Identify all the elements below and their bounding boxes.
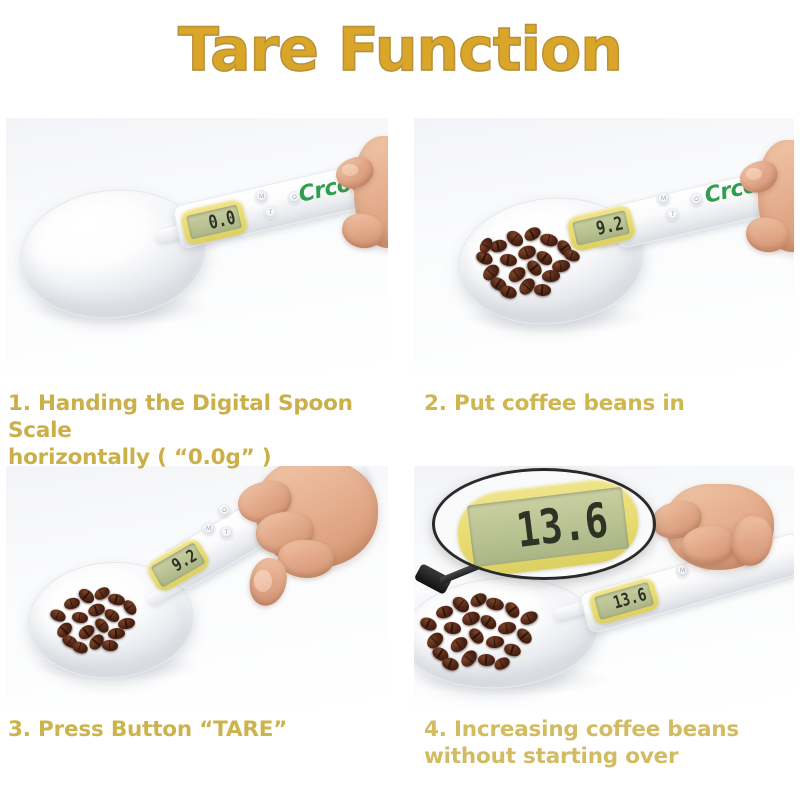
product-infographic: Tare Function 0.0 M T O Crcolife — [0, 0, 800, 800]
lcd-screen: 0.0 — [186, 204, 243, 240]
coffee-beans-pile — [46, 582, 156, 654]
scene-4: 13.6 M T O 13.6 — [414, 466, 794, 710]
page-title: Tare Function — [0, 14, 800, 86]
step-caption-3: 3. Press Button “TARE” — [8, 716, 408, 743]
step-caption-4: 4. Increasing coffee beans without start… — [424, 716, 796, 770]
scale-button-m[interactable]: M — [657, 192, 670, 205]
scale-button-t[interactable]: T — [220, 526, 233, 539]
scale-button-m[interactable]: M — [676, 564, 689, 577]
step-panel-3: 9.2 M T O — [6, 466, 388, 710]
scene-1: 0.0 M T O Crcolife — [6, 118, 388, 376]
fingernail — [254, 570, 272, 592]
magnifier-lens: 13.6 — [432, 468, 656, 580]
scale-button-m[interactable]: M — [202, 522, 215, 535]
fingernail — [746, 168, 762, 180]
step-caption-2: 2. Put coffee beans in — [424, 390, 794, 417]
scale-button-t[interactable]: T — [666, 208, 679, 221]
coffee-beans-pile — [416, 588, 566, 672]
step-panel-2: 9.2 M T O Crcolife — [414, 118, 794, 376]
lcd-value: 9.2 — [169, 547, 200, 575]
step-panel-4: 13.6 M T O 13.6 — [414, 466, 794, 710]
lcd-value: 13.6 — [611, 586, 648, 612]
magnified-lcd-screen: 13.6 — [467, 487, 630, 568]
step-panel-1: 0.0 M T O Crcolife — [6, 118, 388, 376]
fingernail — [342, 164, 358, 176]
magnified-lcd-display: 13.6 — [453, 474, 644, 580]
lcd-value: 0.0 — [207, 208, 238, 232]
scale-button-m[interactable]: M — [255, 190, 268, 203]
scale-button-o[interactable]: O — [690, 193, 703, 206]
lcd-value: 9.2 — [594, 214, 625, 238]
lcd-screen: 9.2 — [572, 210, 630, 246]
magnified-lcd-value: 13.6 — [514, 496, 611, 554]
scene-3: 9.2 M T O — [6, 466, 388, 710]
step-caption-1: 1. Handing the Digital Spoon Scale horiz… — [8, 390, 408, 471]
title-area: Tare Function — [0, 14, 800, 86]
scale-button-o[interactable]: O — [218, 504, 231, 517]
scene-2: 9.2 M T O Crcolife — [414, 118, 794, 376]
scale-button-t[interactable]: T — [264, 206, 277, 219]
